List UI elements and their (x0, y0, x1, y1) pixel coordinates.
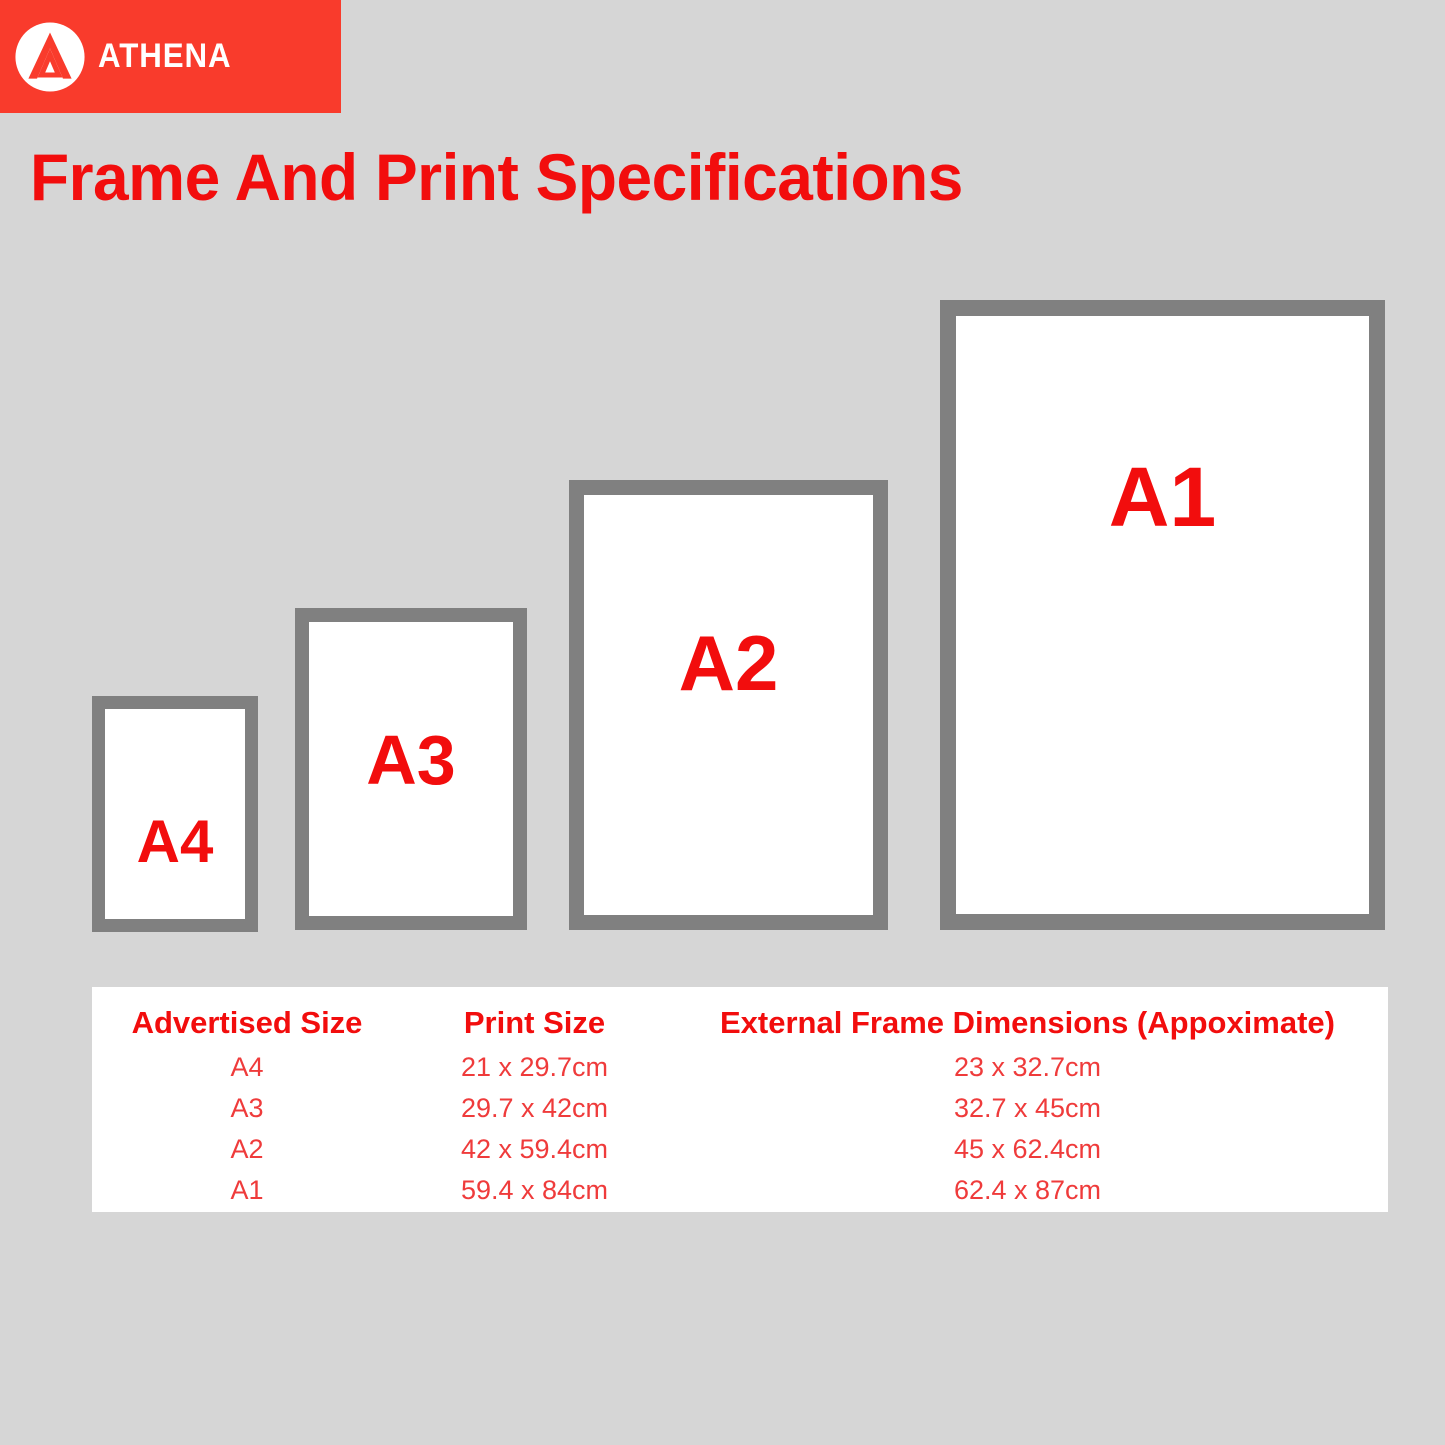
spec-table: Advertised Size Print Size External Fram… (92, 987, 1388, 1212)
frame-sample-a1: A1 (940, 300, 1385, 930)
cell-print-size: 29.7 x 42cm (402, 1088, 667, 1129)
cell-print-size: 59.4 x 84cm (402, 1170, 667, 1211)
frame-sample-a2: A2 (569, 480, 888, 930)
table-row: A1 59.4 x 84cm 62.4 x 87cm (92, 1170, 1388, 1211)
table-row: A2 42 x 59.4cm 45 x 62.4cm (92, 1129, 1388, 1170)
cell-external-frame: 62.4 x 87cm (667, 1170, 1388, 1211)
table-header-row: Advertised Size Print Size External Fram… (92, 987, 1388, 1047)
table-row: A3 29.7 x 42cm 32.7 x 45cm (92, 1088, 1388, 1129)
frame-label-a4: A4 (105, 807, 245, 876)
column-header-external-frame-dimensions: External Frame Dimensions (Appoximate) (667, 987, 1388, 1047)
frame-label-a2: A2 (584, 618, 873, 709)
frame-sample-a4: A4 (92, 696, 258, 932)
table-row: A4 21 x 29.7cm 23 x 32.7cm (92, 1047, 1388, 1088)
cell-advertised-size: A1 (92, 1170, 402, 1211)
cell-external-frame: 23 x 32.7cm (667, 1047, 1388, 1088)
frame-sample-a3: A3 (295, 608, 527, 930)
cell-advertised-size: A4 (92, 1047, 402, 1088)
spec-table-grid: Advertised Size Print Size External Fram… (92, 987, 1388, 1211)
cell-external-frame: 45 x 62.4cm (667, 1129, 1388, 1170)
column-header-advertised-size: Advertised Size (92, 987, 402, 1047)
frame-label-a1: A1 (956, 449, 1369, 546)
cell-advertised-size: A2 (92, 1129, 402, 1170)
frame-size-comparison: A4 A3 A2 A1 (0, 0, 1445, 960)
cell-print-size: 21 x 29.7cm (402, 1047, 667, 1088)
cell-print-size: 42 x 59.4cm (402, 1129, 667, 1170)
frame-label-a3: A3 (309, 720, 513, 800)
column-header-print-size: Print Size (402, 987, 667, 1047)
cell-external-frame: 32.7 x 45cm (667, 1088, 1388, 1129)
cell-advertised-size: A3 (92, 1088, 402, 1129)
